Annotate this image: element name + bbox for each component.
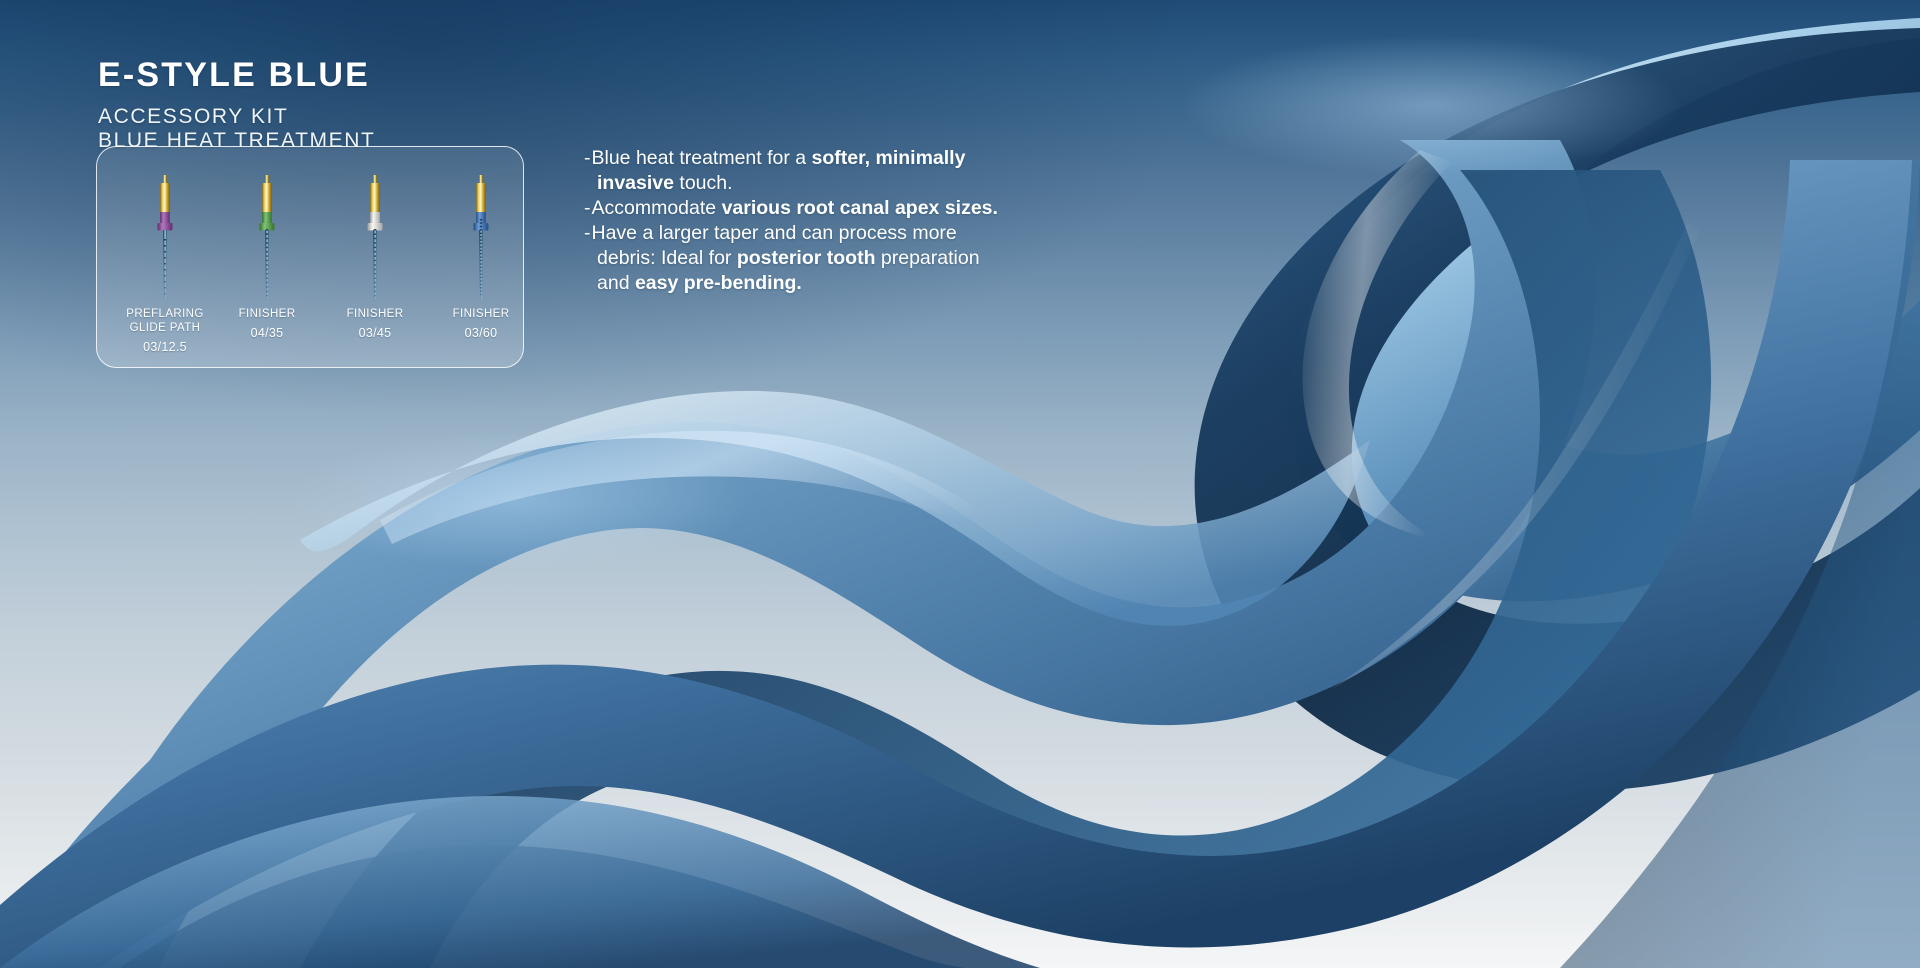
bullet-marker-icon-2: - [584, 197, 591, 219]
file-label: PREFLARING GLIDE PATH [126, 307, 204, 335]
bullet-marker-icon-3: - [584, 222, 591, 244]
endodontic-file-icon [355, 173, 395, 303]
feature-1-line2-plain: touch. [674, 172, 733, 194]
feature-item-3: -Have a larger taper and can process mor… [584, 221, 1036, 296]
feature-3-line3-bold: easy pre-bending. [635, 272, 802, 294]
feature-1-text-plain: Blue heat treatment for a [592, 147, 812, 169]
page-title: E-STYLE BLUE [98, 58, 375, 92]
file-item-2: FINISHER04/35 [219, 173, 315, 340]
feature-3-line2-plain: debris: Ideal for [597, 247, 737, 269]
file-size: 03/60 [465, 326, 498, 340]
file-item-3: FINISHER03/45 [327, 173, 423, 340]
feature-1-line2-bold: invasive [597, 172, 674, 194]
endodontic-file-icon [461, 173, 501, 303]
file-size: 04/35 [251, 326, 284, 340]
file-label: FINISHER [453, 307, 510, 321]
endodontic-file-icon [145, 173, 185, 303]
feature-1-text-bold: softer, minimally [812, 147, 966, 169]
file-size: 03/45 [359, 326, 392, 340]
feature-3-line-3: and easy pre-bending. [584, 271, 1036, 296]
file-list: PREFLARING GLIDE PATH03/12.5FINISHER04/3… [97, 147, 523, 367]
subtitle-accessory-kit: ACCESSORY KIT [98, 105, 375, 129]
file-item-4: FINISHER03/60 [433, 173, 529, 340]
file-label: FINISHER [347, 307, 404, 321]
file-kit-card: PREFLARING GLIDE PATH03/12.5FINISHER04/3… [96, 146, 524, 368]
feature-list: -Blue heat treatment for a softer, minim… [584, 146, 1036, 296]
bullet-marker-icon: - [584, 147, 591, 169]
feature-item-2: -Accommodate various root canal apex siz… [584, 196, 1036, 221]
banner-stage: E-STYLE BLUE ACCESSORY KIT BLUE HEAT TRE… [0, 0, 1920, 968]
file-label: FINISHER [239, 307, 296, 321]
heading-block: E-STYLE BLUE ACCESSORY KIT BLUE HEAT TRE… [98, 58, 375, 152]
feature-3-line-2: debris: Ideal for posterior tooth prepar… [584, 246, 1036, 271]
feature-3-line2-plain-b: preparation [875, 247, 979, 269]
endodontic-file-icon [247, 173, 287, 303]
feature-item-1: -Blue heat treatment for a softer, minim… [584, 146, 1036, 196]
file-item-1: PREFLARING GLIDE PATH03/12.5 [117, 173, 213, 354]
file-size: 03/12.5 [143, 340, 187, 354]
feature-1-line-2: invasive touch. [584, 171, 1036, 196]
feature-2-text-bold: various root canal apex sizes. [722, 197, 998, 219]
ribbon-glow-left [290, 430, 750, 570]
feature-3-line3-plain: and [597, 272, 635, 294]
feature-3-line2-bold: posterior tooth [737, 247, 876, 269]
ribbon-glow-top [1180, 35, 1680, 175]
feature-3-line1: Have a larger taper and can process more [592, 222, 957, 244]
feature-2-text-plain: Accommodate [592, 197, 722, 219]
